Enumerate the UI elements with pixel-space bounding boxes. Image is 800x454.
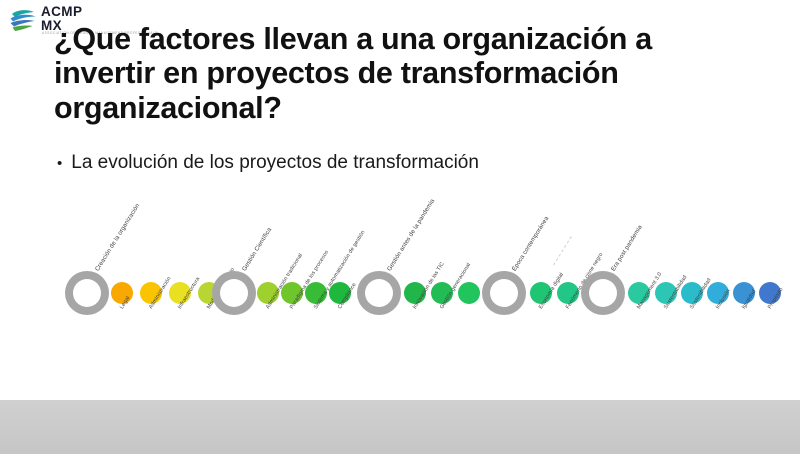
timeline-era-ring (357, 271, 401, 315)
timeline-era-ring (482, 271, 526, 315)
bullet-text: La evolución de los proyectos de transfo… (71, 152, 479, 174)
globe-swirl-icon (8, 5, 38, 35)
logo-line-1: ACMP (41, 5, 82, 19)
slide-canvas: ACMP MX ASSOCIATION OF CHANGE MANAGEMENT… (0, 0, 800, 400)
timeline-era-label: Era post pandemia (610, 224, 644, 273)
timeline-era-label: Creación de la organización (94, 202, 142, 272)
timeline-era-label: Época contemporánea (511, 215, 551, 273)
timeline-era-ring (212, 271, 256, 315)
timeline-connector (553, 236, 572, 265)
page-title: ¿Que factores llevan a una organización … (54, 22, 714, 125)
timeline-era-label: Gestión Científica (241, 226, 274, 272)
timeline-era-label: Gestión antes de la pandemia (386, 198, 437, 273)
bullet-item: • La evolución de los proyectos de trans… (57, 152, 717, 174)
timeline-era-ring (581, 271, 625, 315)
evolution-timeline: Creación de la organizaciónLegalAdminist… (0, 215, 800, 385)
timeline-era-ring (65, 271, 109, 315)
app-backdrop (0, 400, 800, 454)
timeline-milestone-dot (458, 282, 480, 304)
bullet-marker: • (57, 156, 62, 171)
